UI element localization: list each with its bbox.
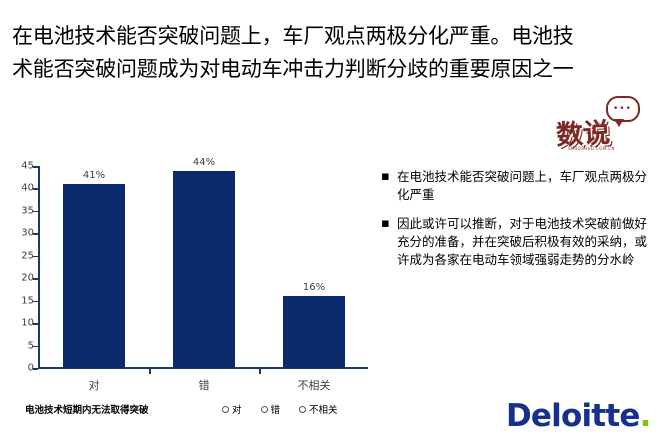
plot-area: 41%44%16% [39, 166, 369, 368]
y-axis-tick [33, 301, 38, 303]
y-axis-tick [33, 278, 38, 280]
legend-item[interactable]: 对 [222, 402, 242, 416]
legend-marker-icon [222, 406, 229, 413]
deloitte-logo: Deloitte. [506, 398, 651, 434]
deloitte-green-dot: . [640, 398, 651, 434]
bar [283, 296, 345, 368]
y-axis-tick [33, 233, 38, 235]
legend-label: 错 [271, 402, 281, 416]
bullet-marker-icon: ▪ [378, 215, 397, 269]
logo-subtitle: SHUOSHUO.COM.CN [568, 146, 615, 151]
title-line-1: 在电池技术能否突破问题上，车厂观点两极分化严重。电池技 [12, 20, 654, 53]
bar-value-label: 41% [83, 170, 105, 181]
bar-value-label: 44% [193, 157, 215, 168]
title-line-2: 术能否突破问题成为对电动车冲击力判断分歧的重要原因之一 [12, 53, 654, 86]
bullet-list: ▪在电池技术能否突破问题上，车厂观点两极分化严重▪因此或许可以推断，对于电池技术… [378, 168, 650, 280]
y-axis-labels: 051015202530354045 [0, 158, 34, 368]
legend-label: 不相关 [309, 402, 338, 416]
bullet-text: 在电池技术能否突破问题上，车厂观点两极分化严重 [397, 168, 650, 204]
shuoshuo-watermark-logo: ••• 数说 SHUOSHUO.COM.CN [552, 96, 652, 158]
speech-bubble-icon: ••• [606, 96, 640, 122]
legend-marker-icon [299, 406, 306, 413]
x-axis-tick [149, 368, 151, 374]
list-item: ▪在电池技术能否突破问题上，车厂观点两极分化严重 [378, 168, 650, 204]
bubble-dots: ••• [613, 106, 632, 112]
legend-marker-icon [261, 406, 268, 413]
legend-item[interactable]: 不相关 [299, 402, 338, 416]
x-axis-category-label: 错 [199, 377, 210, 393]
y-axis-tick [33, 346, 38, 348]
bar-chart: 051015202530354045 41%44%16% 对错不相关 [0, 158, 372, 393]
bar-value-label: 16% [303, 282, 325, 293]
chart-caption: 电池技术短期内无法取得突破 [25, 402, 149, 416]
legend-item[interactable]: 错 [261, 402, 281, 416]
bullet-text: 因此或许可以推断，对于电池技术突破前做好充分的准备，并在突破后积极有效的采纳，或… [397, 215, 650, 269]
list-item: ▪因此或许可以推断，对于电池技术突破前做好充分的准备，并在突破后积极有效的采纳，… [378, 215, 650, 269]
x-axis-category-label: 对 [89, 377, 100, 393]
legend-label: 对 [232, 402, 242, 416]
x-axis-category-label: 不相关 [298, 377, 331, 393]
y-axis-tick [33, 211, 38, 213]
y-axis-tick [33, 256, 38, 258]
bullet-marker-icon: ▪ [378, 168, 397, 204]
y-axis-tick [33, 323, 38, 325]
bar [173, 171, 235, 369]
page-title: 在电池技术能否突破问题上，车厂观点两极分化严重。电池技 术能否突破问题成为对电动… [12, 20, 654, 86]
y-axis-tick [33, 188, 38, 190]
bar [63, 184, 125, 368]
deloitte-wordmark: Deloitte [506, 398, 640, 434]
y-axis-tick [33, 166, 38, 168]
chart-legend: 对错不相关 [222, 402, 338, 416]
x-axis-tick [259, 368, 261, 374]
y-axis-tick [33, 368, 38, 370]
